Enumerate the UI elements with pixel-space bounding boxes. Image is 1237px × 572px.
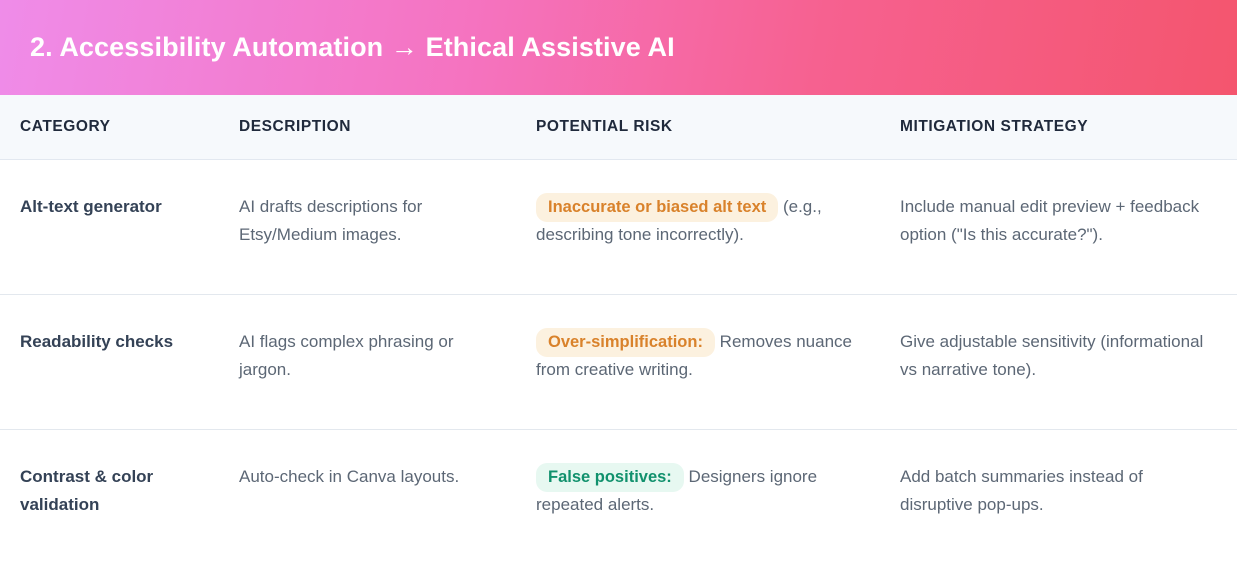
page-title: 2. Accessibility Automation → Ethical As… xyxy=(30,31,675,63)
cell-mitigation-strategy: Add batch summaries instead of disruptiv… xyxy=(900,463,1237,518)
risk-highlight-badge: False positives: xyxy=(536,463,684,492)
page-banner: 2. Accessibility Automation → Ethical As… xyxy=(0,0,1237,95)
cell-category: Alt-text generator xyxy=(0,193,239,221)
category-label: Readability checks xyxy=(20,332,173,351)
cell-mitigation-strategy: Include manual edit preview + feedback o… xyxy=(900,193,1237,248)
table-row: Readability checks AI flags complex phra… xyxy=(0,295,1237,430)
cell-description: AI drafts descriptions for Etsy/Medium i… xyxy=(239,193,536,248)
column-header-mitigation-strategy: MITIGATION STRATEGY xyxy=(900,118,1237,136)
cell-category: Contrast & color validation xyxy=(0,463,239,518)
column-header-category: CATEGORY xyxy=(0,118,239,136)
table-header-row: CATEGORY DESCRIPTION POTENTIAL RISK MITI… xyxy=(0,95,1237,160)
category-label: Alt-text generator xyxy=(20,197,162,216)
risk-highlight-badge: Inaccurate or biased alt text xyxy=(536,193,778,222)
cell-category: Readability checks xyxy=(0,328,239,356)
cell-description: AI flags complex phrasing or jargon. xyxy=(239,328,536,383)
cell-potential-risk: Over-simplification: Removes nuance from… xyxy=(536,328,900,383)
cell-potential-risk: False positives: Designers ignore repeat… xyxy=(536,463,900,518)
risk-highlight-badge: Over-simplification: xyxy=(536,328,715,357)
column-header-description: DESCRIPTION xyxy=(239,118,536,136)
cell-potential-risk: Inaccurate or biased alt text (e.g., des… xyxy=(536,193,900,248)
table-row: Alt-text generator AI drafts description… xyxy=(0,160,1237,295)
cell-mitigation-strategy: Give adjustable sensitivity (information… xyxy=(900,328,1237,383)
table-row: Contrast & color validation Auto-check i… xyxy=(0,430,1237,565)
cell-description: Auto-check in Canva layouts. xyxy=(239,463,536,491)
risk-mitigation-table: CATEGORY DESCRIPTION POTENTIAL RISK MITI… xyxy=(0,95,1237,565)
column-header-potential-risk: POTENTIAL RISK xyxy=(536,118,900,136)
category-label: Contrast & color validation xyxy=(20,467,153,514)
